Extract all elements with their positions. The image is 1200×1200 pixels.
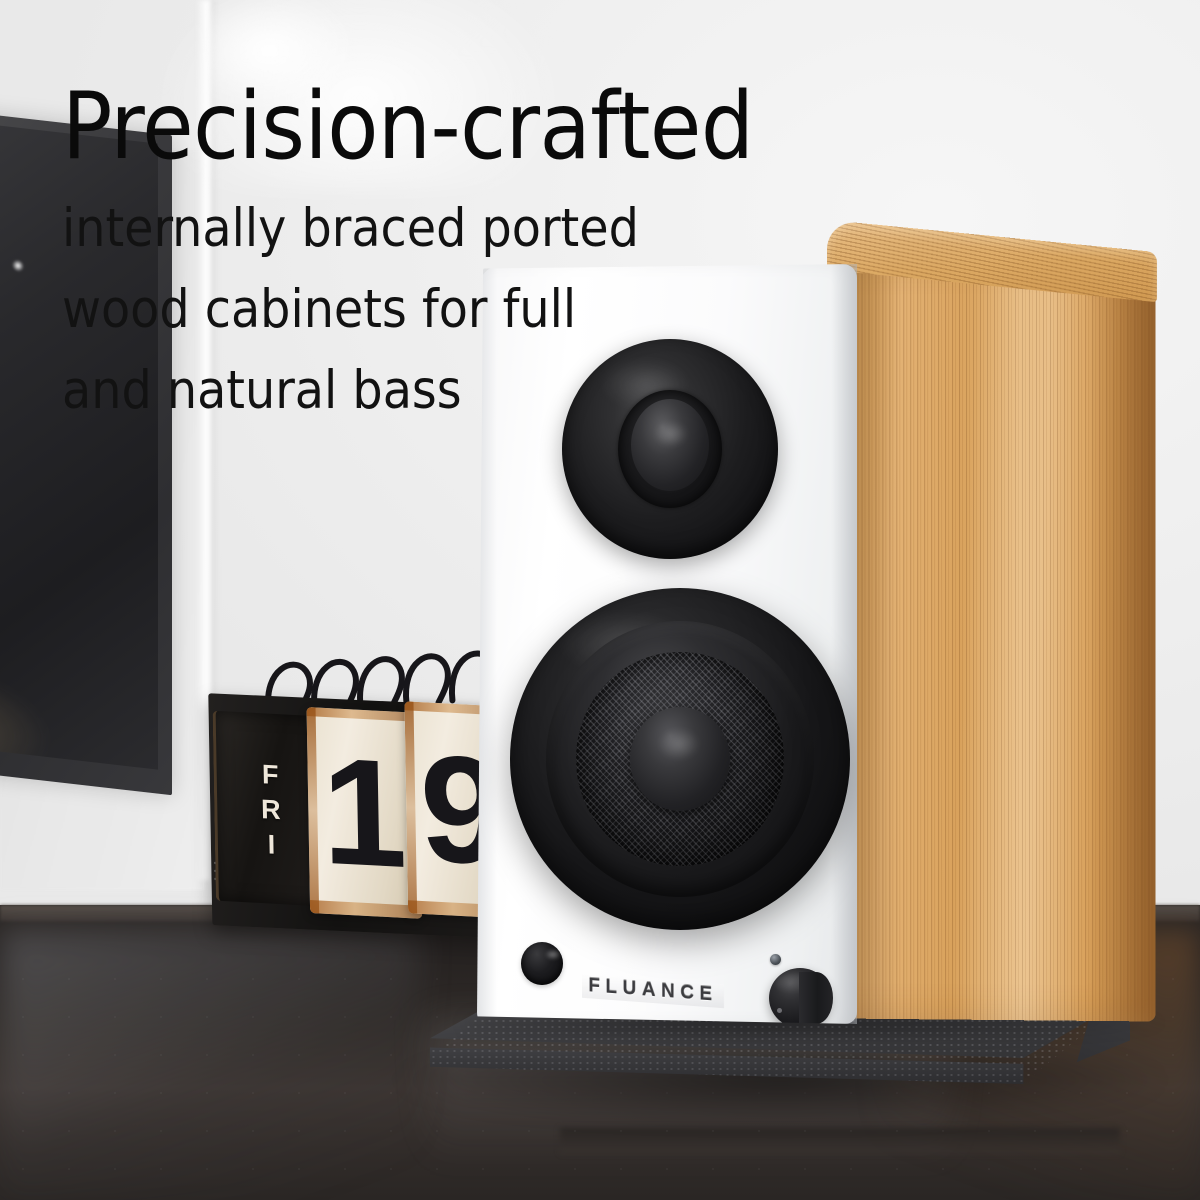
bass-port-specular bbox=[545, 949, 561, 960]
subtitle-block: internally braced ported wood cabinets f… bbox=[62, 188, 902, 431]
product-marketing-image: FRI 1 9 bbox=[0, 0, 1200, 1200]
dust-cap-specular bbox=[658, 728, 700, 760]
wood-shadow-right bbox=[1085, 256, 1155, 1021]
calendar-day-letters: FRI bbox=[260, 757, 282, 863]
wood-highlight bbox=[960, 257, 1080, 1021]
subtitle-line-1: internally braced ported bbox=[62, 188, 902, 269]
subtitle-line-3: and natural bass bbox=[62, 350, 902, 431]
screen-sheen bbox=[0, 112, 67, 770]
calendar-digit: 1 bbox=[321, 735, 408, 891]
subtitle-line-2: wood cabinets for full bbox=[62, 269, 902, 350]
woven-fiber-woofer bbox=[510, 588, 850, 930]
marketing-copy: Precision-crafted internally braced port… bbox=[62, 78, 902, 431]
screen-bottom-glow bbox=[0, 658, 50, 767]
headline: Precision-crafted bbox=[62, 78, 902, 174]
bass-port bbox=[521, 942, 563, 985]
power-led bbox=[770, 954, 781, 965]
volume-knob-side bbox=[799, 972, 833, 1024]
volume-knob-indicator bbox=[777, 1008, 782, 1013]
woofer-dust-cap bbox=[630, 707, 730, 811]
volume-knob[interactable] bbox=[769, 968, 835, 1030]
screen-specular-highlight bbox=[12, 259, 24, 272]
